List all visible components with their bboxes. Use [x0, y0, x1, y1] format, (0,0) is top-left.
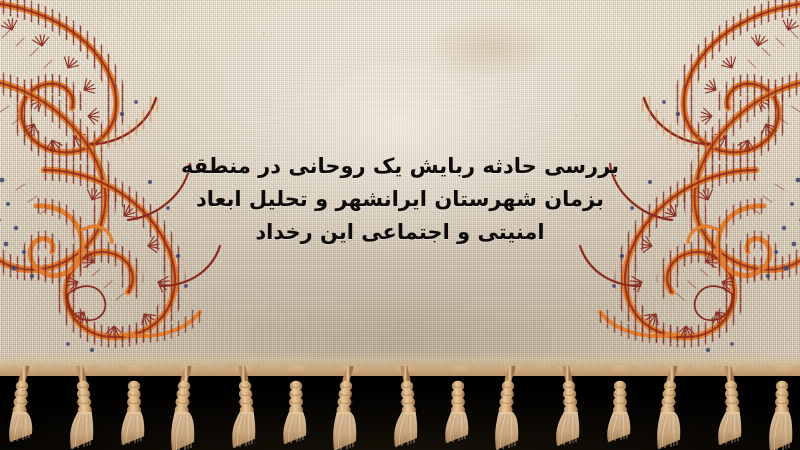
title-line-3: امنیتی و اجتماعی این رخداد	[165, 216, 635, 249]
title-line-2: بزمان شهرستان ایرانشهر و تحلیل ابعاد	[165, 183, 635, 216]
fabric-scallop-edge	[0, 366, 800, 380]
black-backdrop	[0, 374, 800, 450]
title-text-block: بررسی حادثه ربایش یک روحانی در منطقه بزم…	[165, 150, 635, 249]
fabric-stain-mark	[430, 18, 550, 78]
title-line-1: بررسی حادثه ربایش یک روحانی در منطقه	[165, 150, 635, 183]
title-card-canvas: بررسی حادثه ربایش یک روحانی در منطقه بزم…	[0, 0, 800, 450]
